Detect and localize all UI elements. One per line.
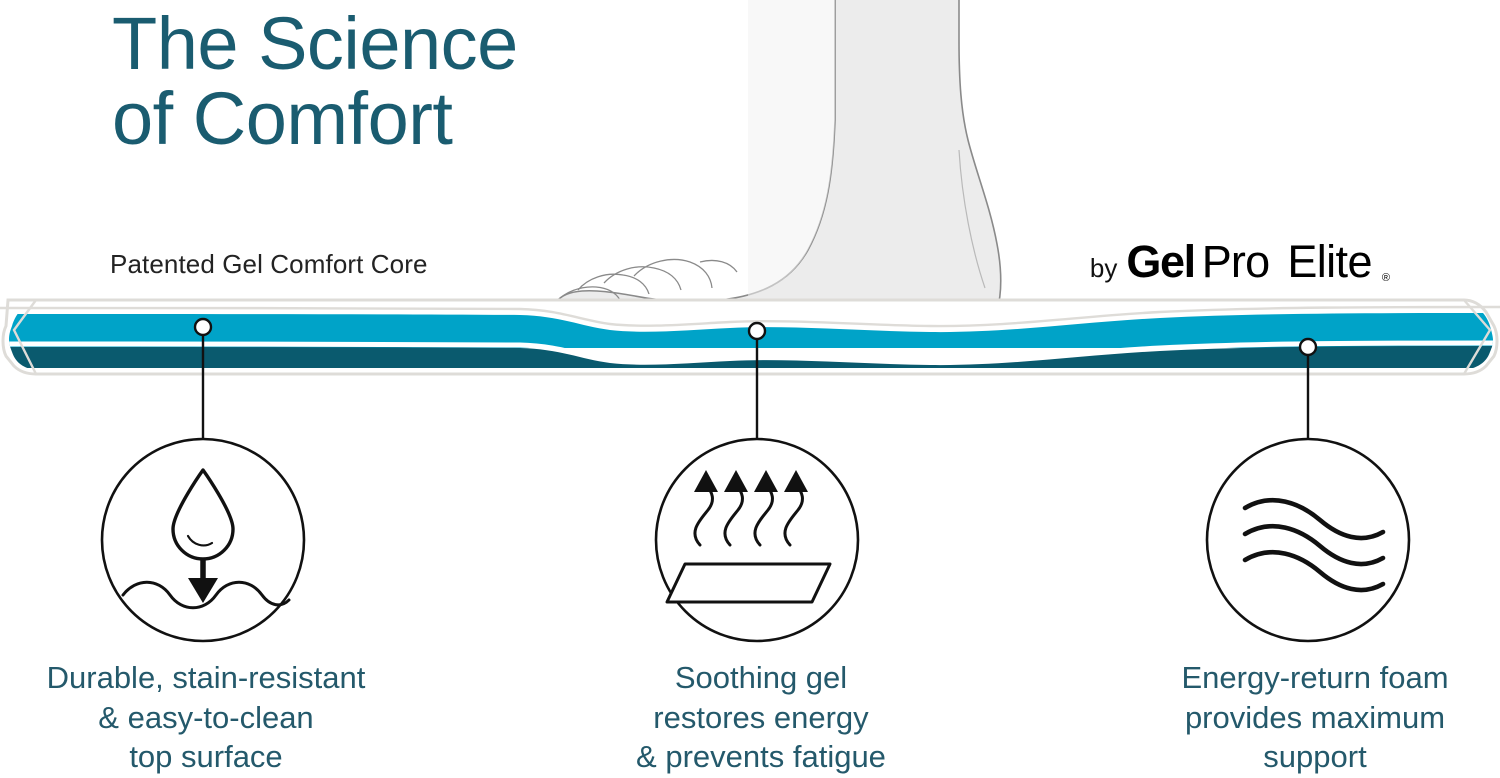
brand-trademark-symbol: ® [1382, 272, 1390, 284]
anchor-dot-3 [1300, 339, 1316, 355]
brand-elite-text: Elite [1287, 236, 1372, 288]
gel-core-label: Patented Gel Comfort Core [110, 249, 428, 280]
callout-anchor-dots [195, 319, 1316, 355]
infographic-canvas: The Science of Comfort Patented Gel Comf… [0, 0, 1500, 778]
callout-leader-lines [203, 336, 1308, 440]
anchor-dot-1 [195, 319, 211, 335]
brand-logo: by Gel Pro Elite ® [1090, 236, 1390, 288]
icon-circle-2 [656, 439, 858, 641]
mat-body [0, 300, 1500, 374]
brand-by-text: by [1090, 253, 1117, 284]
icon-circle-1 [102, 439, 304, 641]
brand-gel-text: Gel [1126, 236, 1194, 288]
anchor-dot-2 [749, 323, 765, 339]
feature-icon-2-group[interactable] [656, 439, 858, 641]
rising-energy-waves-icon [667, 470, 830, 602]
feature-caption-1: Durable, stain-resistant & easy-to-clean… [0, 658, 412, 777]
feature-caption-3: Energy-return foam provides maximum supp… [1125, 658, 1500, 777]
feature-icon-3-group[interactable] [1207, 439, 1409, 641]
page-title: The Science of Comfort [112, 6, 732, 157]
feature-icon-1-group[interactable] [102, 439, 304, 641]
wavy-foam-lines-icon [1245, 500, 1383, 590]
icon-circle-3 [1207, 439, 1409, 641]
water-droplet-absorb-icon [123, 470, 289, 608]
feature-caption-2: Soothing gel restores energy & prevents … [585, 658, 937, 777]
brand-pro-text: Pro [1202, 236, 1270, 288]
